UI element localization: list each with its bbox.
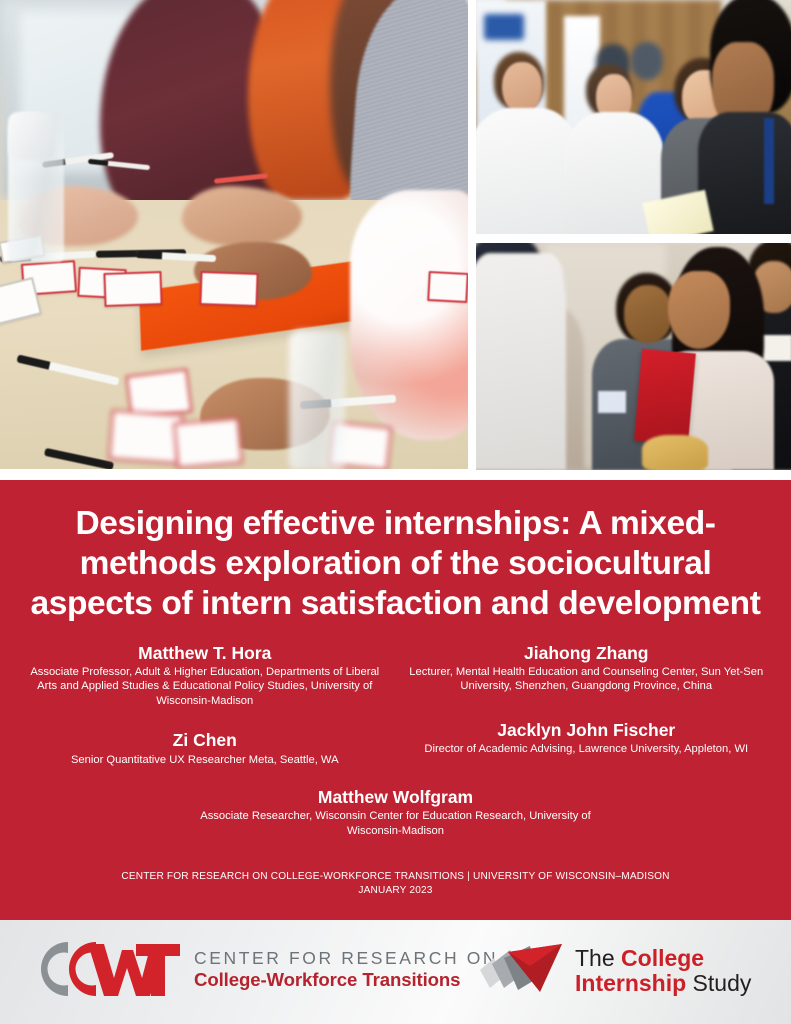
author-affiliation: Lecturer, Mental Health Education and Co… [396,665,778,693]
author-list: Matthew T. Hora Associate Professor, Adu… [0,643,791,789]
arrow-wing-icon [478,942,564,1000]
title-line-2: methods exploration of the sociocultural [16,544,775,584]
author-matthew-wolfgram: Matthew Wolfgram Associate Researcher, W… [0,787,791,838]
photo-career-fair [476,0,791,234]
author-affiliation: Associate Researcher, Wisconsin Center f… [0,809,791,837]
author-name: Jiahong Zhang [396,643,778,664]
author-column-left: Matthew T. Hora Associate Professor, Adu… [14,643,396,789]
title-line-3: aspects of intern satisfaction and devel… [16,584,775,624]
author-affiliation: Director of Academic Advising, Lawrence … [396,742,778,756]
photo-students-hall [476,243,791,470]
ccwt-wordmark: CENTER FOR RESEARCH ON College-Workforce… [194,948,498,989]
title-line-1: Designing effective internships: A mixed… [16,504,775,544]
author-column-right: Jiahong Zhang Lecturer, Mental Health Ed… [396,643,778,789]
author-name: Matthew Wolfgram [0,787,791,808]
title-block: Designing effective internships: A mixed… [0,480,791,920]
author-matthew-hora: Matthew T. Hora Associate Professor, Adu… [14,643,396,708]
ccwt-logo: CENTER FOR RESEARCH ON College-Workforce… [32,938,498,1000]
ccwt-line-1: CENTER FOR RESEARCH ON [194,950,498,968]
cis-line-1: The College [575,947,751,970]
cover-page: Designing effective internships: A mixed… [0,0,791,1024]
author-affiliation: Senior Quantitative UX Researcher Meta, … [14,753,396,767]
cis-wordmark: The College Internship Study [575,947,751,995]
cis-study: Study [686,970,751,996]
author-zi-chen: Zi Chen Senior Quantitative UX Researche… [14,730,396,767]
ccwt-monogram-icon [32,938,180,1000]
author-name: Zi Chen [14,730,396,751]
cis-college: College [621,945,704,971]
author-name: Matthew T. Hora [14,643,396,664]
publisher-footer: CENTER FOR RESEARCH ON COLLEGE-WORKFORCE… [0,870,791,898]
publisher-line: CENTER FOR RESEARCH ON COLLEGE-WORKFORCE… [0,870,791,884]
logo-bar: CENTER FOR RESEARCH ON College-Workforce… [0,920,791,1024]
author-affiliation: Associate Professor, Adult & Higher Educ… [14,665,396,708]
page-title: Designing effective internships: A mixed… [0,480,791,625]
college-internship-study-logo: The College Internship Study [478,942,751,1000]
author-jacklyn-john-fischer: Jacklyn John Fischer Director of Academi… [396,720,778,757]
photo-workshop-table [0,0,468,469]
cis-internship: Internship [575,970,686,996]
author-name: Jacklyn John Fischer [396,720,778,741]
cis-line-2: Internship Study [575,972,751,995]
author-jiahong-zhang: Jiahong Zhang Lecturer, Mental Health Ed… [396,643,778,694]
cis-the: The [575,945,621,971]
photo-band [0,0,791,470]
date-line: JANUARY 2023 [0,884,791,898]
ccwt-line-2: College-Workforce Transitions [194,971,498,990]
